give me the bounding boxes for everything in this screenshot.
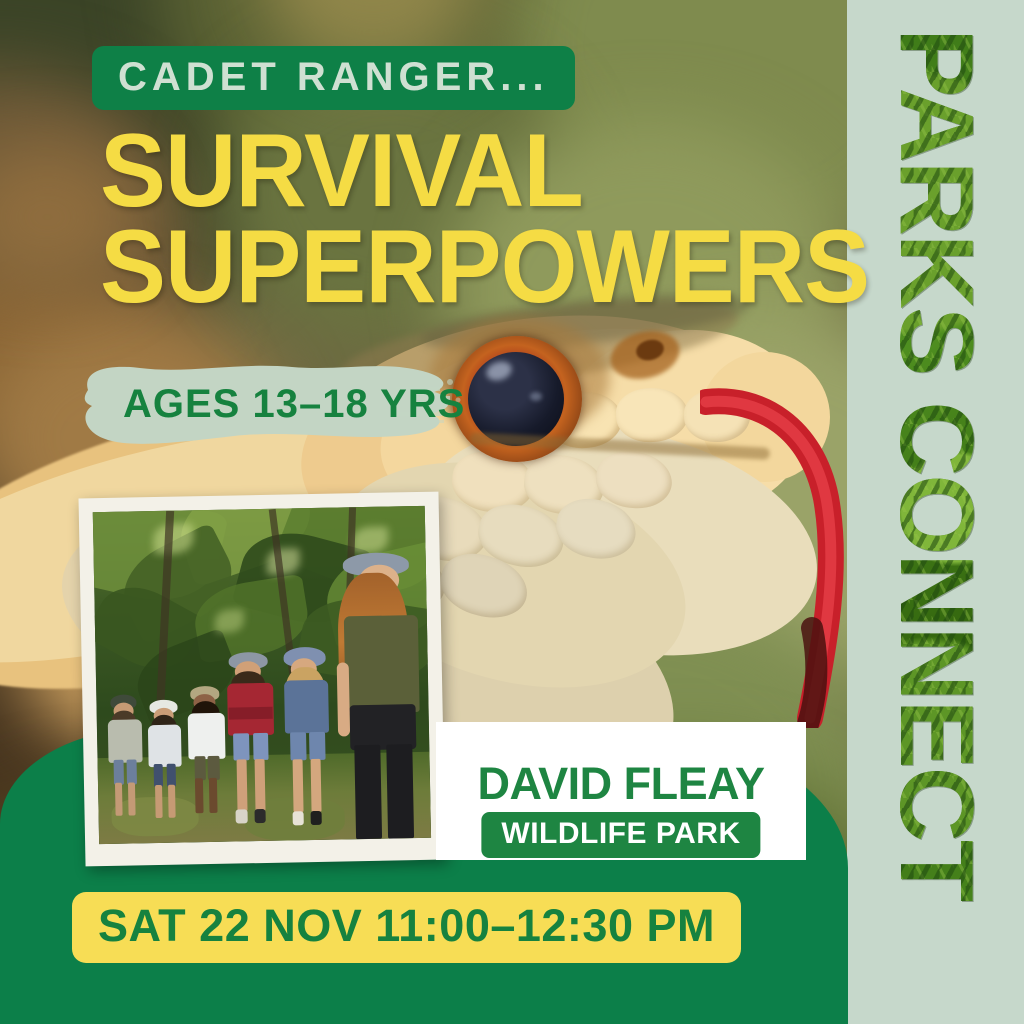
hiker-2 — [143, 700, 189, 824]
hikers-photo — [93, 506, 431, 844]
ages-badge: AGES 13–18 YRS — [78, 356, 498, 452]
hiker-1 — [103, 694, 149, 821]
hiker-6-foreground — [333, 552, 431, 839]
hiker-4 — [222, 651, 282, 825]
venue-card: DAVID FLEAY WILDLIFE PARK — [436, 722, 806, 860]
hiker-5 — [278, 647, 338, 827]
brand-parks-connect: PARKS CONNECT — [887, 28, 984, 901]
page-title: SURVIVAL SUPERPOWERS — [100, 124, 869, 315]
brand-vertical-wrap: PARKS CONNECT — [887, 28, 984, 901]
brand-sidebar: PARKS CONNECT — [847, 0, 1024, 1024]
title-line-2: SUPERPOWERS — [100, 220, 869, 316]
ages-label: AGES 13–18 YRS — [123, 382, 465, 427]
venue-name: DAVID FLEAY — [477, 758, 764, 810]
polaroid-photo-frame — [79, 492, 446, 867]
date-time-badge: SAT 22 NOV 11:00–12:30 PM — [72, 892, 741, 963]
eyebrow-badge: CADET RANGER... — [92, 46, 575, 110]
poster-canvas: PARKS CONNECT CADET RANGER... SURVIVAL S… — [0, 0, 1024, 1024]
venue-subtitle-badge: WILDLIFE PARK — [481, 812, 760, 858]
